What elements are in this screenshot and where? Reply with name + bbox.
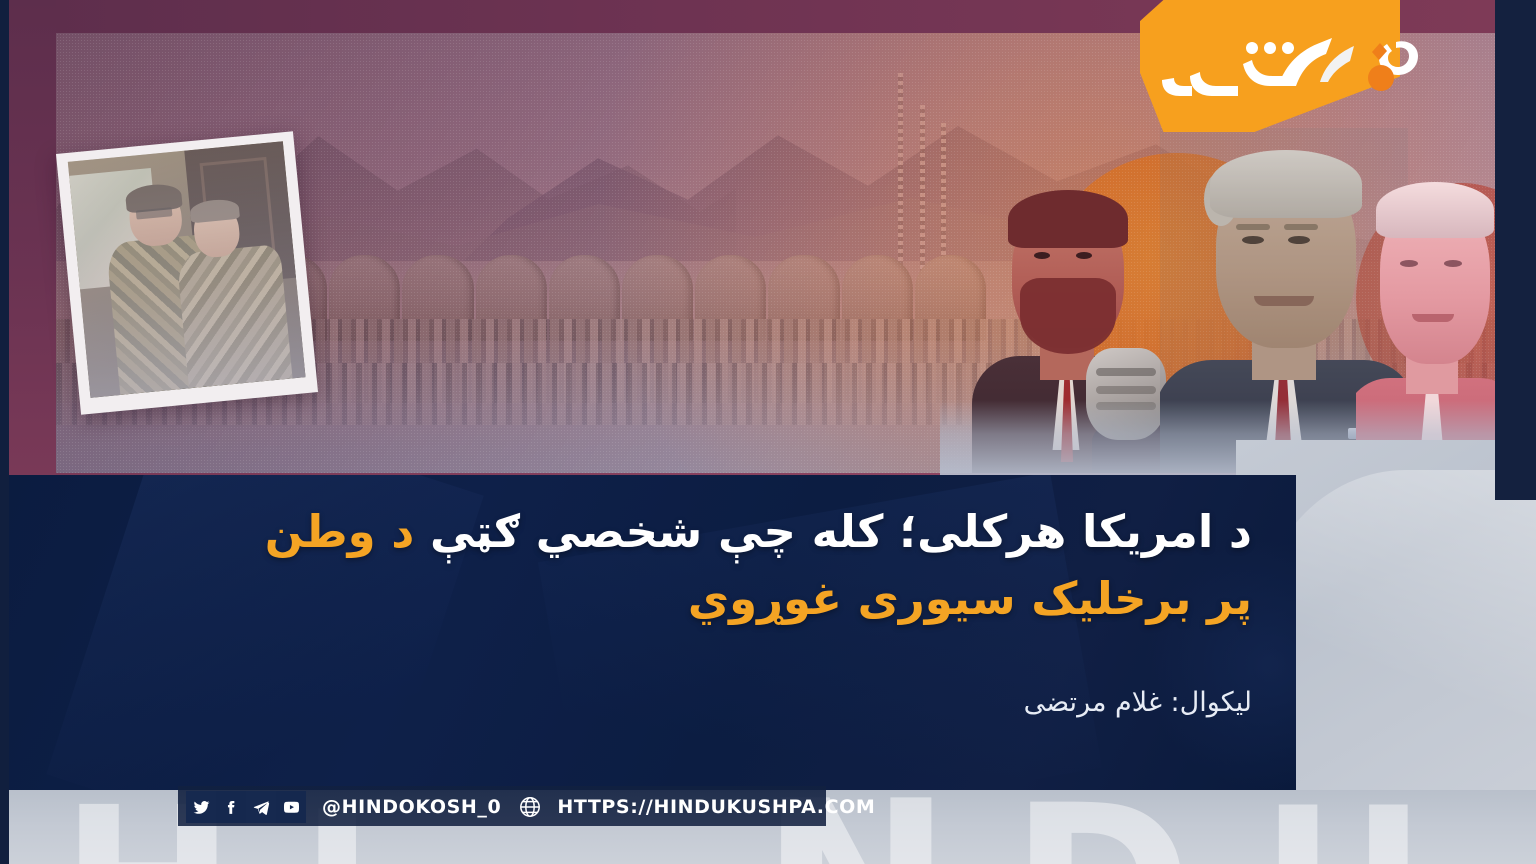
eye (1076, 252, 1092, 259)
framed-photo (56, 131, 318, 415)
hair (1376, 182, 1494, 238)
hair (1008, 190, 1128, 248)
eye (1034, 252, 1050, 259)
title-block: د امریکا هرکلی؛ کله چې شخصي ګټې د وطن پر… (0, 475, 1296, 790)
logo-wordmark[interactable] (1140, 0, 1440, 132)
social-links: @HINDOKOSH_0 HTTPS://HINDUKUSHPA.COM (186, 789, 875, 825)
watermark-letter: U (1260, 790, 1426, 864)
facebook-glyph (223, 799, 240, 816)
frame-left-border (8, 0, 56, 500)
globe-glyph (518, 795, 542, 819)
beard (1020, 278, 1116, 354)
twitter-glyph (193, 799, 210, 816)
facebook-icon[interactable] (216, 791, 246, 823)
poster-canvas: د امریکا هرکلی؛ کله چې شخصي ګټې د وطن پر… (0, 0, 1536, 864)
framed-photo-image (68, 141, 306, 398)
website-url[interactable]: HTTPS://HINDUKUSHPA.COM (557, 796, 875, 818)
byline: لیکوال: غلام مرتضی (1024, 687, 1252, 718)
hindukush-logo-icon (1160, 30, 1420, 100)
headline-line-1: د امریکا هرکلی؛ کله چې شخصي ګټې د وطن (44, 499, 1252, 566)
watermark-letter: D (1010, 790, 1193, 864)
telegram-glyph (253, 799, 270, 816)
eye (1400, 260, 1418, 267)
headline-line-2: پر برخلیک سیوری غوړوي (44, 566, 1252, 633)
youtube-glyph (283, 799, 300, 816)
right-edge-border (1495, 0, 1536, 500)
telegram-icon[interactable] (246, 791, 276, 823)
logo-text (1160, 30, 1420, 100)
eye (1444, 260, 1462, 267)
globe-icon (517, 794, 543, 820)
right-panel-swoosh (1256, 470, 1536, 800)
left-edge-border (0, 0, 9, 864)
headline-line-1-text: د امریکا هرکلی؛ کله چې شخصي ګټې (430, 505, 1252, 558)
photo-fade-overlay (68, 141, 306, 398)
youtube-icon[interactable] (276, 791, 306, 823)
headline: د امریکا هرکلی؛ کله چې شخصي ګټې د وطن پر… (44, 499, 1252, 632)
mouth (1412, 314, 1454, 322)
headline-highlight: د وطن (265, 505, 415, 558)
social-handle[interactable]: @HINDOKOSH_0 (322, 796, 501, 818)
twitter-icon[interactable] (186, 791, 216, 823)
